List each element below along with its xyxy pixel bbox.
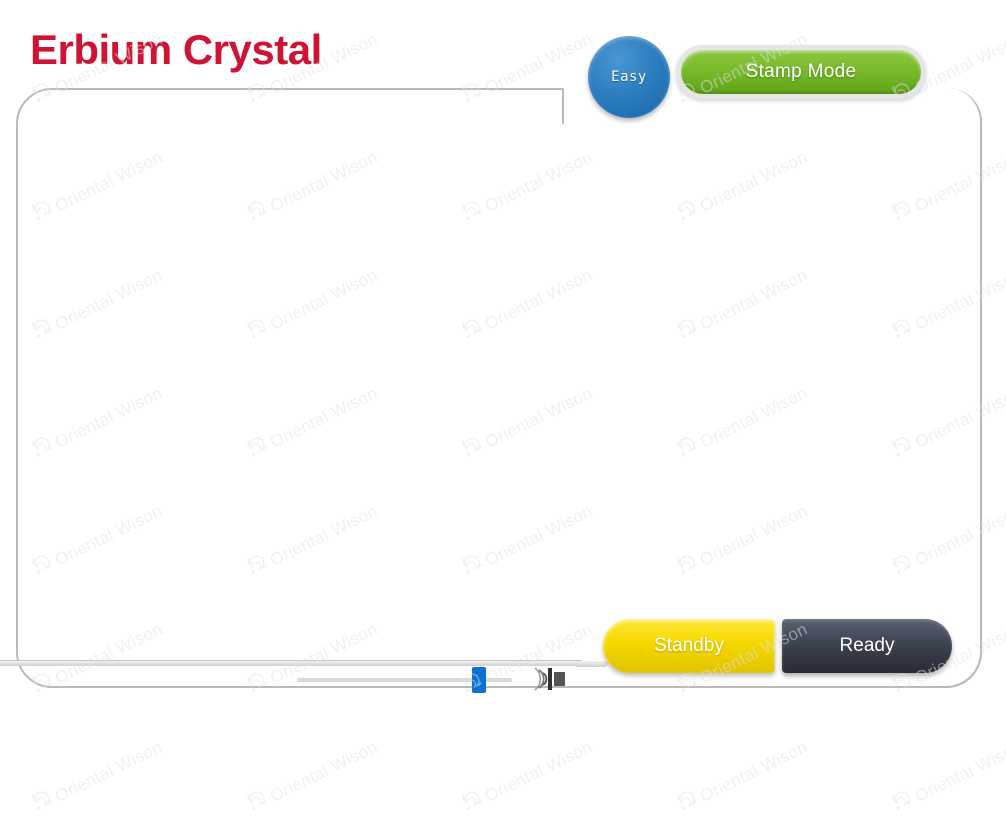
stamp-mode-button-label: Stamp Mode (746, 61, 857, 83)
watermark: Oriental Wison (452, 735, 597, 823)
volume-slider-thumb[interactable] (472, 667, 486, 693)
swirl-logo-icon (237, 789, 272, 823)
swirl-logo-icon (882, 789, 917, 823)
swirl-logo-icon (667, 789, 702, 823)
ready-button-label: Ready (840, 635, 895, 657)
easy-mode-button[interactable]: Easy (588, 36, 670, 118)
watermark-text: Oriental Wison (52, 737, 166, 806)
volume-slider[interactable] (297, 676, 512, 684)
device-shell (16, 88, 982, 688)
watermark: Oriental Wison (882, 735, 1006, 823)
watermark: Oriental Wison (667, 735, 812, 823)
watermark-text: Oriental Wison (267, 737, 381, 806)
watermark-text: Oriental Wison (912, 737, 1006, 806)
page-title: Erbium Crystal (30, 26, 322, 74)
stamp-mode-button[interactable]: Stamp Mode (681, 50, 921, 94)
stamp-mode-pill-frame: Stamp Mode (676, 45, 926, 99)
standby-button-label: Standby (654, 635, 724, 657)
watermark-text: Oriental Wison (482, 737, 596, 806)
watermark: Oriental Wison (237, 735, 382, 823)
watermark: Oriental Wison (22, 735, 167, 823)
watermark-text: Oriental Wison (697, 737, 811, 806)
bottom-divider (0, 660, 582, 666)
standby-button[interactable]: Standby (603, 619, 775, 673)
easy-mode-label: Easy (611, 69, 647, 85)
speaker-volume-icon[interactable] (528, 664, 568, 694)
ready-button[interactable]: Ready (782, 619, 952, 673)
swirl-logo-icon (452, 789, 487, 823)
swirl-logo-icon (22, 789, 57, 823)
